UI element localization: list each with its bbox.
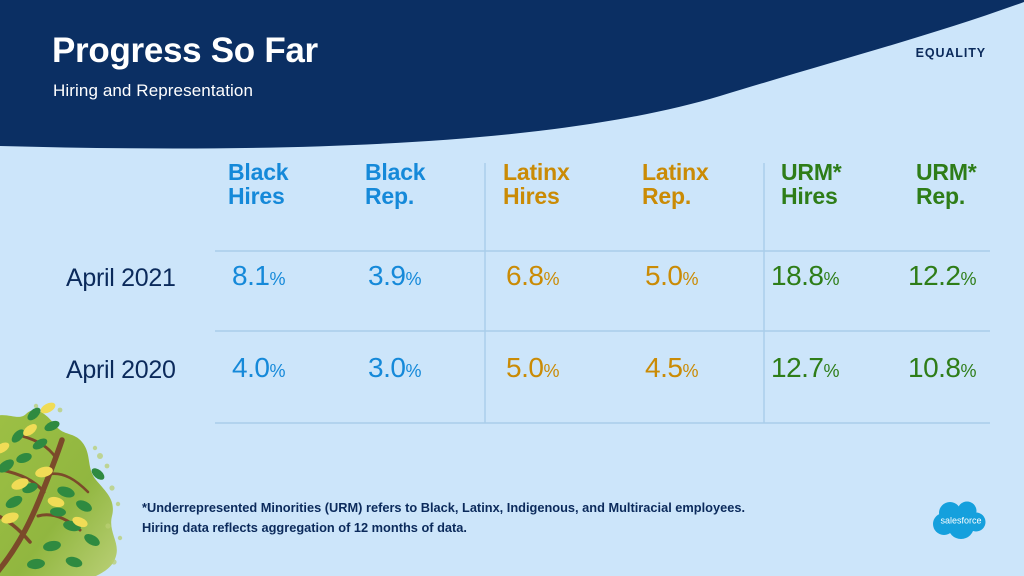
column-header-line1: Black — [228, 160, 288, 184]
row-label-april-2020: April 2020 — [66, 356, 176, 385]
slide-canvas: Progress So Far Hiring and Representatio… — [0, 0, 1024, 576]
column-header-urm-rep: URM* Rep. — [916, 160, 977, 208]
tree-foliage-illustration — [0, 396, 175, 576]
percent-sign: % — [405, 269, 421, 289]
percent-sign: % — [269, 361, 285, 381]
column-header-line2: Hires — [503, 184, 570, 208]
page-title: Progress So Far — [52, 32, 318, 71]
page-subtitle: Hiring and Representation — [53, 81, 253, 101]
cell-value: 12.2 — [908, 260, 961, 291]
percent-sign: % — [405, 361, 421, 381]
cell-value: 10.8 — [908, 352, 961, 383]
percent-sign: % — [543, 269, 559, 289]
percent-sign: % — [824, 269, 840, 289]
cell-value: 5.0 — [645, 260, 682, 291]
cell-value: 4.5 — [645, 352, 682, 383]
column-header-latinx-rep: Latinx Rep. — [642, 160, 709, 208]
column-header-line1: Latinx — [642, 160, 709, 184]
cell-2020-latinx-rep: 4.5% — [645, 352, 698, 384]
cell-value: 3.9 — [368, 260, 405, 291]
percent-sign: % — [543, 361, 559, 381]
column-header-line2: Rep. — [365, 184, 425, 208]
column-header-line1: Black — [365, 160, 425, 184]
cell-2020-urm-rep: 10.8% — [908, 352, 977, 384]
cell-value: 12.7 — [771, 352, 824, 383]
column-header-line2: Rep. — [916, 184, 977, 208]
cell-value: 6.8 — [506, 260, 543, 291]
eyebrow-label: EQUALITY — [916, 46, 986, 60]
cell-2021-latinx-hires: 6.8% — [506, 260, 559, 292]
cell-value: 4.0 — [232, 352, 269, 383]
cell-value: 8.1 — [232, 260, 269, 291]
cell-2021-black-rep: 3.9% — [368, 260, 421, 292]
cell-2020-black-hires: 4.0% — [232, 352, 285, 384]
percent-sign: % — [682, 269, 698, 289]
header-text-block: Progress So Far Hiring and Representatio… — [0, 0, 1024, 160]
cell-2020-black-rep: 3.0% — [368, 352, 421, 384]
footnote-line-1: *Underrepresented Minorities (URM) refer… — [142, 498, 902, 518]
cell-2020-urm-hires: 12.7% — [771, 352, 840, 384]
column-header-line1: Latinx — [503, 160, 570, 184]
salesforce-cloud-logo: salesforce — [930, 496, 992, 546]
cell-value: 18.8 — [771, 260, 824, 291]
footnote-line-2: Hiring data reflects aggregation of 12 m… — [142, 518, 902, 538]
footnote: *Underrepresented Minorities (URM) refer… — [142, 498, 902, 538]
salesforce-wordmark: salesforce — [940, 516, 981, 526]
row-label-april-2021: April 2021 — [66, 264, 176, 293]
column-header-line1: URM* — [916, 160, 977, 184]
column-header-line1: URM* — [781, 160, 842, 184]
percent-sign: % — [682, 361, 698, 381]
cell-2020-latinx-hires: 5.0% — [506, 352, 559, 384]
column-header-black-rep: Black Rep. — [365, 160, 425, 208]
column-header-line2: Rep. — [642, 184, 709, 208]
percent-sign: % — [824, 361, 840, 381]
percent-sign: % — [961, 361, 977, 381]
cell-2021-urm-hires: 18.8% — [771, 260, 840, 292]
column-header-black-hires: Black Hires — [228, 160, 288, 208]
cell-2021-urm-rep: 12.2% — [908, 260, 977, 292]
column-header-urm-hires: URM* Hires — [781, 160, 842, 208]
column-header-line2: Hires — [781, 184, 842, 208]
cell-value: 3.0 — [368, 352, 405, 383]
column-header-line2: Hires — [228, 184, 288, 208]
cell-2021-black-hires: 8.1% — [232, 260, 285, 292]
percent-sign: % — [961, 269, 977, 289]
cell-value: 5.0 — [506, 352, 543, 383]
column-header-latinx-hires: Latinx Hires — [503, 160, 570, 208]
percent-sign: % — [269, 269, 285, 289]
cell-2021-latinx-rep: 5.0% — [645, 260, 698, 292]
